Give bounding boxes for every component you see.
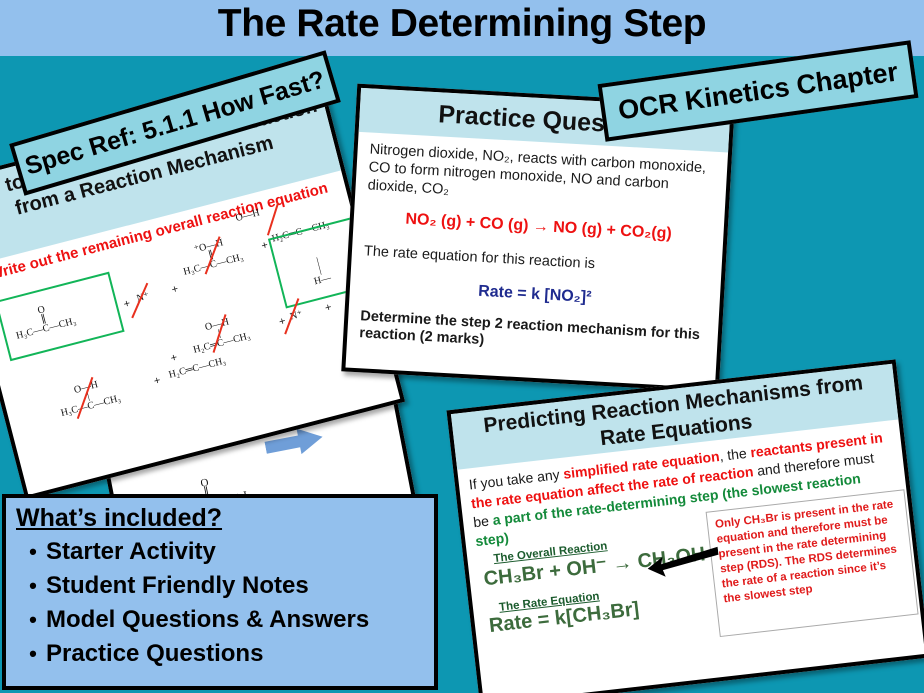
list-item-label: Practice Questions: [46, 637, 263, 671]
whats-included-heading: What’s included?: [16, 504, 424, 533]
list-item: •Practice Questions: [20, 637, 424, 671]
plus-sign-1: +: [122, 298, 131, 311]
rds-note-box: Only CH₃Br is present in the rate equati…: [706, 489, 919, 637]
slide-canvas: The Rate Determining Step How to Determi…: [0, 0, 924, 693]
practice-question-paragraph: Nitrogen dioxide, NO₂, reacts with carbo…: [367, 140, 715, 213]
practice-question-equation: NO₂ (g) + CO (g) → NO (g) + CO₂(g): [365, 208, 711, 245]
list-item-label: Student Friendly Notes: [46, 569, 309, 603]
plus-sign-7: +: [153, 374, 162, 387]
list-item: •Starter Activity: [20, 535, 424, 569]
list-item-label: Model Questions & Answers: [46, 603, 369, 637]
practice-question-rate-equation: Rate = k [NO₂]²: [362, 276, 708, 313]
list-item: •Model Questions & Answers: [20, 603, 424, 637]
bullet-icon: •: [20, 603, 46, 637]
whats-included-list: •Starter Activity •Student Friendly Note…: [16, 535, 424, 671]
page-title: The Rate Determining Step: [0, 2, 924, 46]
plus-sign-2: +: [170, 283, 179, 296]
practice-question-task: Determine the step 2 reaction mechanism …: [359, 308, 706, 361]
plus-sign-4: +: [169, 352, 178, 365]
list-item-label: Starter Activity: [46, 535, 216, 569]
rds-note-text: Only CH₃Br is present in the rate equati…: [714, 499, 897, 606]
card-predicting-mechanisms[interactable]: Predicting Reaction Mechanisms from Rate…: [446, 359, 924, 693]
list-item: •Student Friendly Notes: [20, 569, 424, 603]
whats-included-box: What’s included? •Starter Activity •Stud…: [2, 494, 438, 690]
bullet-icon: •: [20, 637, 46, 671]
bullet-icon: •: [20, 535, 46, 569]
plus-sign-6: +: [324, 301, 333, 314]
para-part2: , the: [719, 444, 752, 463]
practice-question-rate-line: The rate equation for this reaction is: [363, 242, 709, 279]
bullet-icon: •: [20, 569, 46, 603]
